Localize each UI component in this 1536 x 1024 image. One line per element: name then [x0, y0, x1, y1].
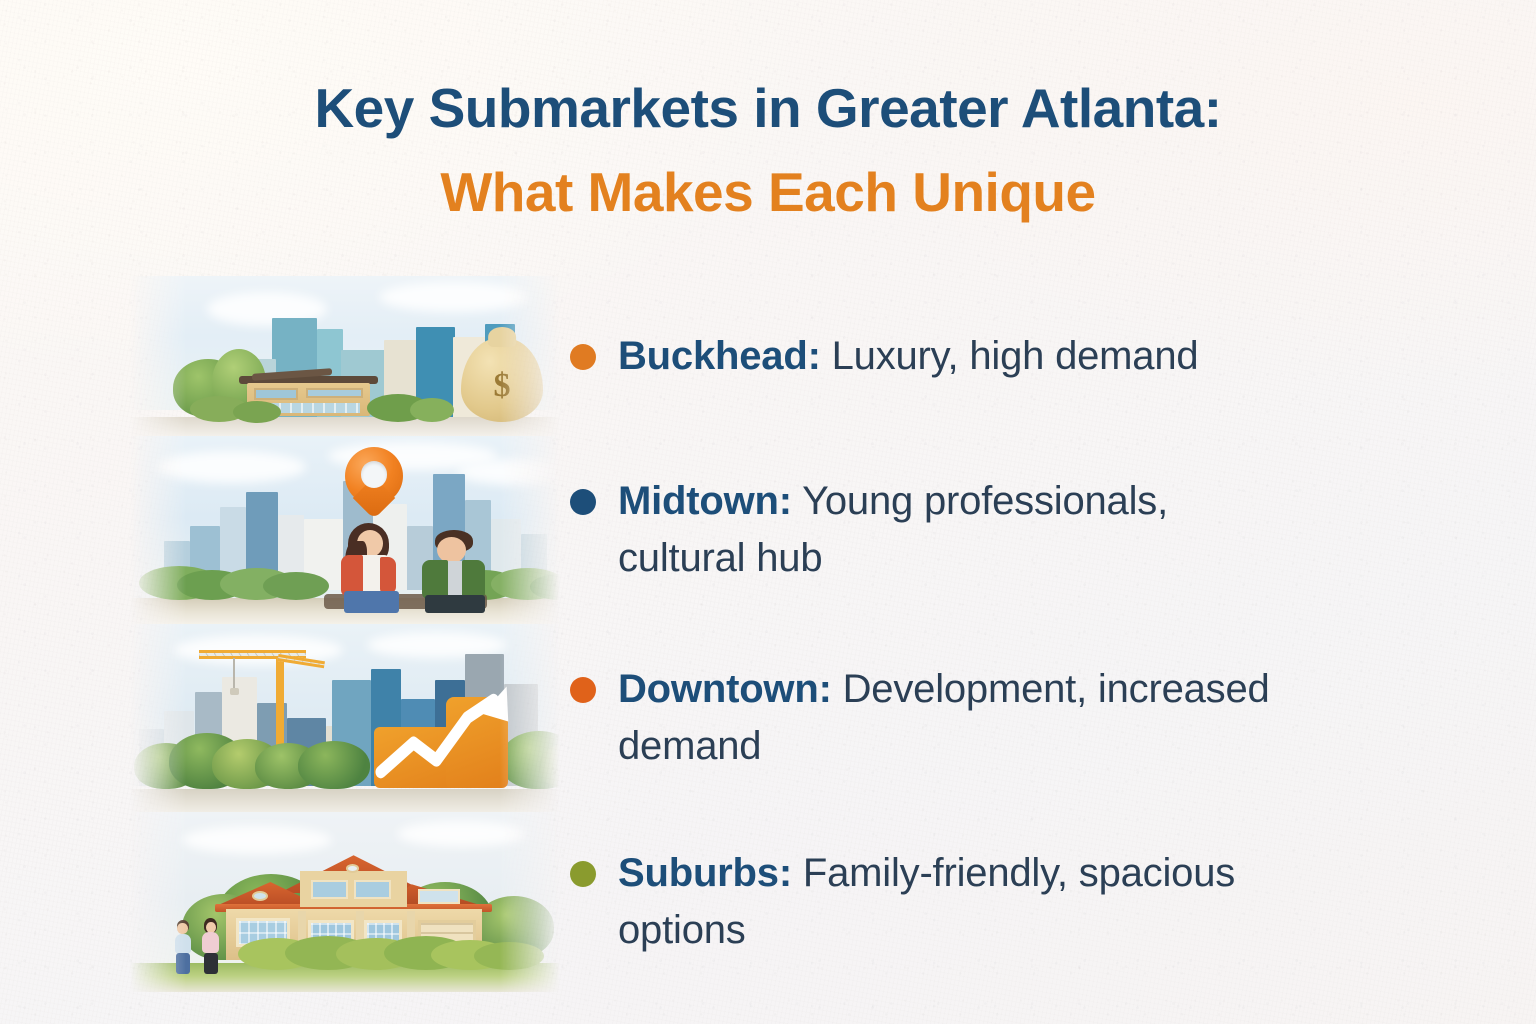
- dollar-symbol: $: [461, 367, 543, 405]
- submarket-name: Downtown:: [618, 667, 832, 711]
- list-bullet: [570, 344, 596, 370]
- money-bag-icon: $: [461, 338, 543, 421]
- submarket-name: Midtown:: [618, 479, 792, 523]
- growth-arrow-icon: [371, 671, 534, 788]
- downtown-development-illustration: [130, 624, 560, 812]
- submarket-text: Buckhead: Luxury, high demand: [560, 328, 1536, 385]
- list-bullet: [570, 677, 596, 703]
- person-figure: [414, 530, 491, 613]
- list-item-copy: Suburbs: Family-friendly, spacious optio…: [618, 845, 1278, 959]
- person-figure: [199, 918, 223, 974]
- submarket-name: Suburbs:: [618, 851, 792, 895]
- page-title: Key Submarkets in Greater Atlanta:: [0, 78, 1536, 140]
- suburbs-family-home-illustration: [130, 812, 560, 992]
- person-figure: [332, 523, 405, 613]
- infographic-page: Key Submarkets in Greater Atlanta: What …: [0, 0, 1536, 1024]
- submarket-name: Buckhead:: [618, 334, 821, 378]
- page-heading: Key Submarkets in Greater Atlanta: What …: [0, 78, 1536, 223]
- person-figure: [171, 920, 195, 974]
- list-bullet: [570, 861, 596, 887]
- submarket-text: Suburbs: Family-friendly, spacious optio…: [560, 845, 1536, 959]
- list-item: $ Buckhead: Luxury, high demand: [0, 276, 1536, 436]
- midtown-skyline-illustration: [130, 436, 560, 624]
- page-subtitle: What Makes Each Unique: [0, 162, 1536, 224]
- list-item-copy: Downtown: Development, increased demand: [618, 661, 1278, 775]
- list-item-copy: Buckhead: Luxury, high demand: [618, 328, 1198, 385]
- list-item: Suburbs: Family-friendly, spacious optio…: [0, 812, 1536, 992]
- submarket-description: Luxury, high demand: [821, 334, 1199, 378]
- list-item: Midtown: Young professionals, cultural h…: [0, 436, 1536, 624]
- submarket-text: Midtown: Young professionals, cultural h…: [560, 473, 1536, 587]
- list-bullet: [570, 489, 596, 515]
- buckhead-luxury-illustration: $: [130, 276, 560, 436]
- list-item: Downtown: Development, increased demand: [0, 624, 1536, 812]
- submarket-text: Downtown: Development, increased demand: [560, 661, 1536, 775]
- submarket-list: $ Buckhead: Luxury, high demand: [0, 276, 1536, 992]
- construction-crane-icon: [276, 658, 284, 756]
- list-item-copy: Midtown: Young professionals, cultural h…: [618, 473, 1278, 587]
- map-pin-icon: [345, 447, 403, 505]
